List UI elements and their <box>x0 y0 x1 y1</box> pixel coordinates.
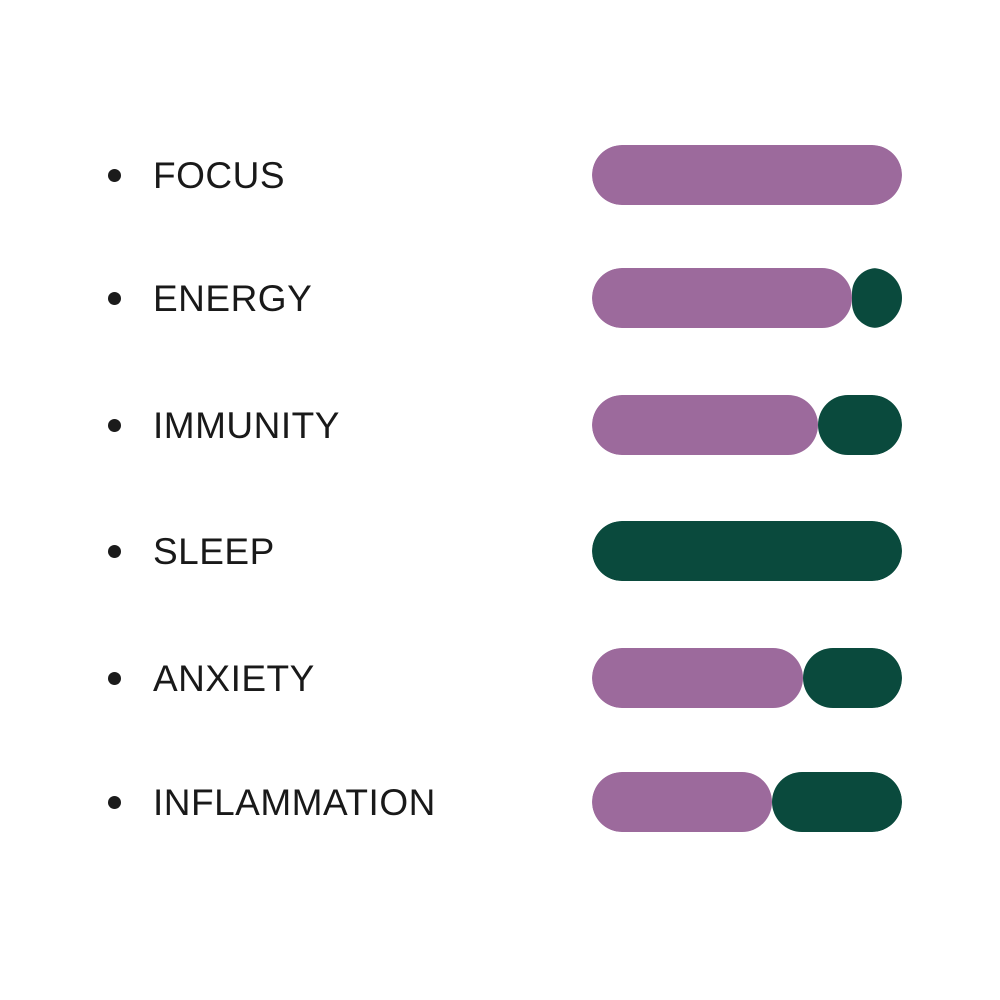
metric-row: INFLAMMATION <box>0 772 1000 832</box>
metric-bar-remainder <box>803 648 902 708</box>
metric-label: ENERGY <box>153 280 312 317</box>
metric-bar-track[interactable] <box>592 772 902 832</box>
metric-bar-fill <box>592 772 772 832</box>
metric-label-group: ENERGY <box>108 268 312 328</box>
metric-bar-remainder <box>592 521 902 581</box>
metric-label-group: INFLAMMATION <box>108 772 436 832</box>
metric-row: ANXIETY <box>0 648 1000 708</box>
metric-bar-track[interactable] <box>592 268 902 328</box>
metric-bar-fill <box>592 395 818 455</box>
metric-label-group: SLEEP <box>108 521 275 581</box>
metric-row: SLEEP <box>0 521 1000 581</box>
metric-label: ANXIETY <box>153 660 315 697</box>
metric-bar-remainder <box>772 772 902 832</box>
metric-bar-track[interactable] <box>592 648 902 708</box>
bullet-icon <box>108 419 121 432</box>
metric-label: INFLAMMATION <box>153 784 436 821</box>
metric-bar-remainder <box>818 395 902 455</box>
metric-label: FOCUS <box>153 157 285 194</box>
bullet-icon <box>108 796 121 809</box>
metric-row: IMMUNITY <box>0 395 1000 455</box>
metric-row: ENERGY <box>0 268 1000 328</box>
metric-bar-track[interactable] <box>592 521 902 581</box>
metric-label-group: IMMUNITY <box>108 395 340 455</box>
bullet-icon <box>108 545 121 558</box>
metric-bar-fill <box>592 145 902 205</box>
metric-label: SLEEP <box>153 533 275 570</box>
metric-bar-fill <box>592 268 852 328</box>
metric-bar-track[interactable] <box>592 145 902 205</box>
metric-bar-remainder <box>852 268 902 328</box>
bullet-icon <box>108 292 121 305</box>
metric-bar-track[interactable] <box>592 395 902 455</box>
wellness-metrics-infographic: FOCUSENERGYIMMUNITYSLEEPANXIETYINFLAMMAT… <box>0 0 1000 1000</box>
metric-label-group: ANXIETY <box>108 648 315 708</box>
metric-bar-fill <box>592 648 803 708</box>
bullet-icon <box>108 672 121 685</box>
metric-row: FOCUS <box>0 145 1000 205</box>
metric-label-group: FOCUS <box>108 145 285 205</box>
bullet-icon <box>108 169 121 182</box>
metric-label: IMMUNITY <box>153 407 340 444</box>
